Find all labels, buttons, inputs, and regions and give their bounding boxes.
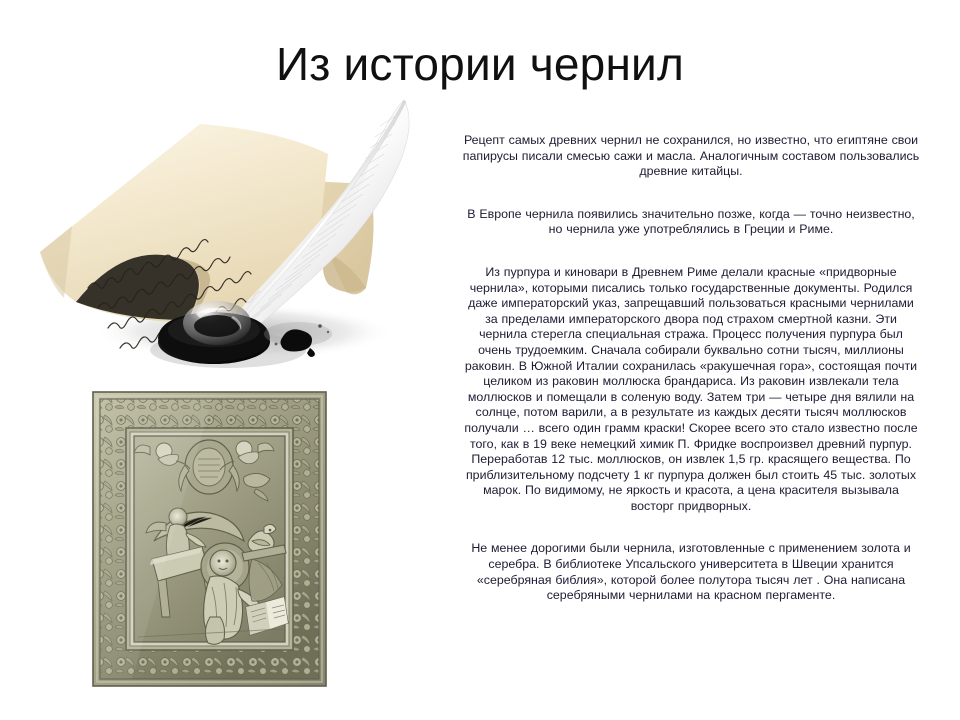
- paragraph-1: Рецепт самых древних чернил не сохранилс…: [462, 133, 920, 180]
- figure-head: [210, 550, 236, 576]
- body-text-column: Рецепт самых древних чернил не сохранилс…: [462, 133, 920, 604]
- illustration-silver-relief-plaque: [92, 391, 327, 687]
- paragraph-3: Из пурпура и киновари в Древнем Риме дел…: [462, 265, 920, 515]
- paragraph-2: В Европе чернила появились значительно п…: [462, 207, 920, 238]
- illustration-parchment-quill-inkwell: [28, 92, 432, 372]
- cartouche-inner: [193, 448, 225, 486]
- page-title: Из истории чернил: [0, 36, 960, 92]
- paragraph-4: Не менее дорогими были чернила, изготовл…: [462, 541, 920, 603]
